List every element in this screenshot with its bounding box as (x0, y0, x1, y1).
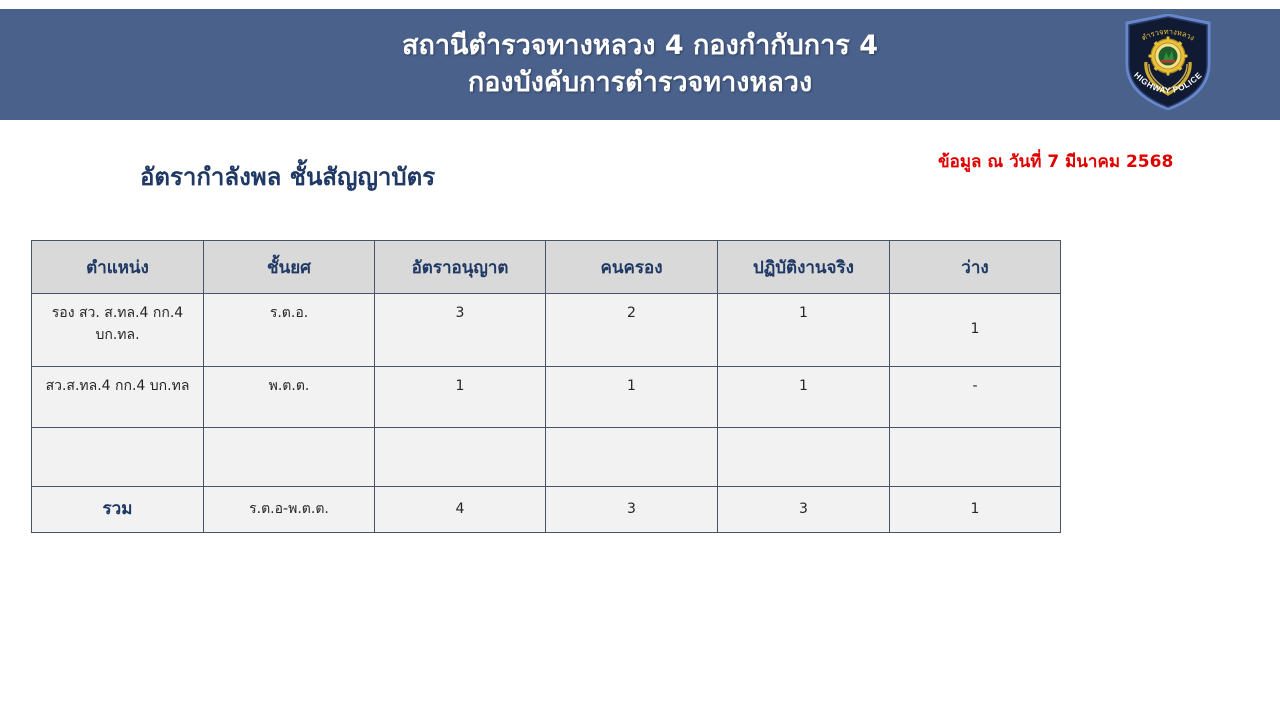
data-date-label: ข้อมูล ณ วันที่ 7 มีนาคม 2568 (938, 148, 1173, 175)
cell-total-authorized: 4 (375, 487, 546, 533)
header-title: สถานีตำรวจทางหลวง 4 กองกำกับการ 4 กองบัง… (0, 9, 1280, 120)
cell-position: สว.ส.ทล.4 กก.4 บก.ทล (32, 367, 204, 428)
cell-total-rank: ร.ต.อ-พ.ต.ต. (204, 487, 375, 533)
cell-position: รอง สว. ส.ทล.4 กก.4 บก.ทล. (32, 294, 204, 367)
table-row: สว.ส.ทล.4 กก.4 บก.ทล พ.ต.ต. 1 1 1 - (32, 367, 1061, 428)
cell-vacant (890, 428, 1061, 487)
column-header-position: ตำแหน่ง (32, 241, 204, 294)
cell-rank: ร.ต.อ. (204, 294, 375, 367)
cell-authorized: 1 (375, 367, 546, 428)
cell-total-filled: 3 (546, 487, 718, 533)
column-header-rank: ชั้นยศ (204, 241, 375, 294)
cell-active: 1 (718, 367, 890, 428)
cell-rank (204, 428, 375, 487)
cell-filled: 2 (546, 294, 718, 367)
cell-active: 1 (718, 294, 890, 367)
table-row-empty (32, 428, 1061, 487)
cell-filled: 1 (546, 367, 718, 428)
column-header-vacant: ว่าง (890, 241, 1061, 294)
cell-active (718, 428, 890, 487)
highway-police-badge-icon: ตำรวจทางหลวง (1122, 14, 1214, 110)
cell-rank: พ.ต.ต. (204, 367, 375, 428)
page-title: อัตรากำลังพล ชั้นสัญญาบัตร (140, 157, 435, 196)
column-header-active: ปฏิบัติงานจริง (718, 241, 890, 294)
table-total-row: รวม ร.ต.อ-พ.ต.ต. 4 3 3 1 (32, 487, 1061, 533)
header-title-line-1: สถานีตำรวจทางหลวง 4 กองกำกับการ 4 (402, 28, 878, 64)
header-band: สถานีตำรวจทางหลวง 4 กองกำกับการ 4 กองบัง… (0, 9, 1280, 120)
column-header-filled: คนครอง (546, 241, 718, 294)
cell-vacant: 1 (890, 294, 1061, 367)
personnel-roster-table: ตำแหน่ง ชั้นยศ อัตราอนุญาต คนครอง ปฏิบัต… (31, 240, 1061, 533)
cell-total-active: 3 (718, 487, 890, 533)
cell-vacant: - (890, 367, 1061, 428)
cell-authorized: 3 (375, 294, 546, 367)
cell-total-vacant: 1 (890, 487, 1061, 533)
cell-position (32, 428, 204, 487)
table-row: รอง สว. ส.ทล.4 กก.4 บก.ทล. ร.ต.อ. 3 2 1 … (32, 294, 1061, 367)
header-title-line-2: กองบังคับการตำรวจทางหลวง (468, 65, 812, 101)
column-header-authorized: อัตราอนุญาต (375, 241, 546, 294)
cell-total-label: รวม (32, 487, 204, 533)
table-header-row: ตำแหน่ง ชั้นยศ อัตราอนุญาต คนครอง ปฏิบัต… (32, 241, 1061, 294)
cell-authorized (375, 428, 546, 487)
cell-filled (546, 428, 718, 487)
